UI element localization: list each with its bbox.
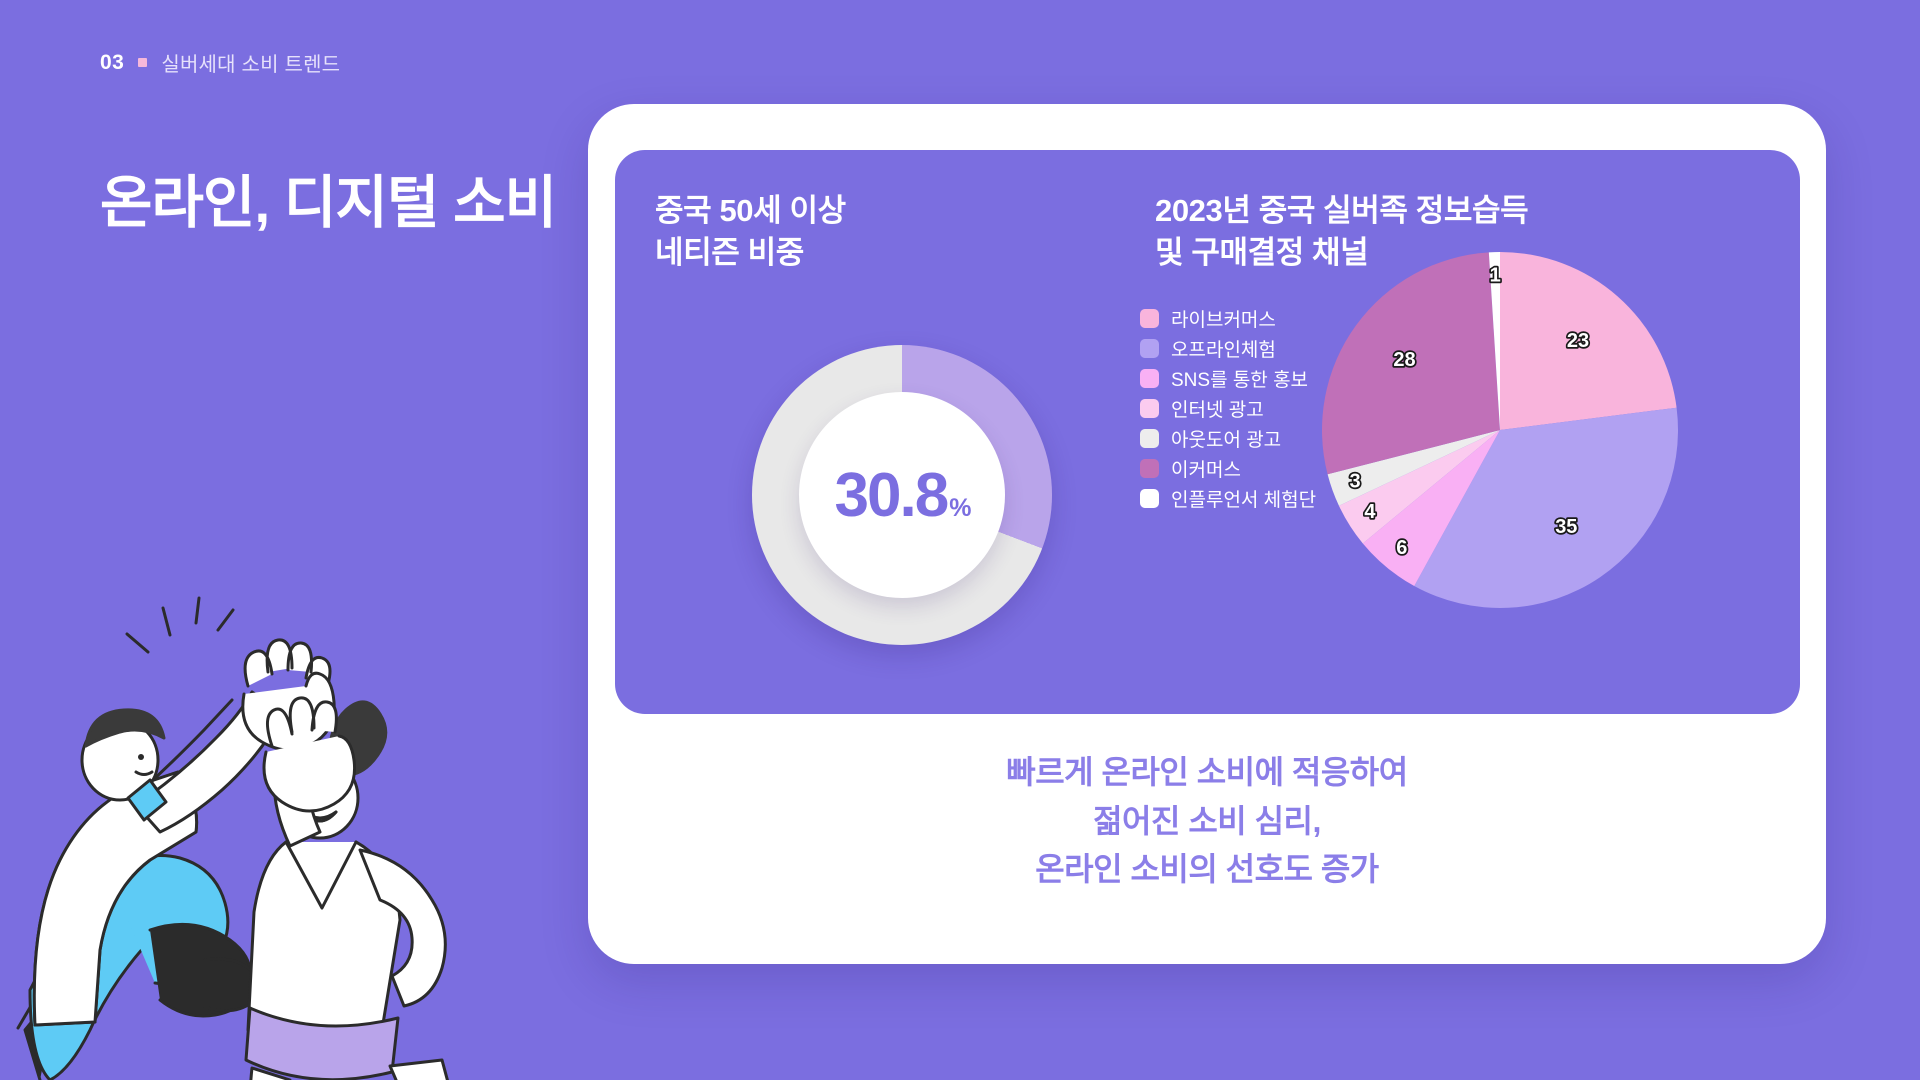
pie-slices[interactable] [1322,252,1678,608]
pie-data-label: 6 [1396,537,1407,559]
donut-chart: 30.8 % [752,345,1052,645]
legend-item[interactable]: 인터넷 광고 [1140,395,1316,422]
donut-unit: % [949,494,969,523]
legend-item[interactable]: 아웃도어 광고 [1140,425,1316,452]
page-title: 온라인, 디지털 소비 [100,166,556,240]
legend-item[interactable]: 인플루언서 체험단 [1140,485,1316,512]
summary-caption: 빠르게 온라인 소비에 적응하여 젊어진 소비 심리, 온라인 소비의 선호도 … [588,748,1826,894]
legend-item[interactable]: 오프라인체험 [1140,335,1316,362]
legend-item[interactable]: 라이브커머스 [1140,305,1316,332]
donut-center: 30.8 % [799,392,1005,598]
pie-chart-svg: 2335643281 [1320,250,1680,610]
pie-legend: 라이브커머스 오프라인체험 SNS를 통한 홍보 인터넷 광고 아웃도어 광고 … [1140,305,1316,512]
pie-data-label: 1 [1490,264,1501,286]
legend-swatch [1140,459,1159,478]
legend-label: 아웃도어 광고 [1171,425,1281,452]
legend-label: 라이브커머스 [1171,305,1276,332]
pie-data-label: 23 [1567,330,1589,352]
pie-data-label: 3 [1350,470,1361,492]
donut-number: 30.8 [835,460,948,531]
legend-swatch [1140,309,1159,328]
legend-label: 인터넷 광고 [1171,395,1264,422]
section-number: 03 [100,51,124,75]
legend-swatch [1140,429,1159,448]
legend-item[interactable]: SNS를 통한 홍보 [1140,365,1316,392]
pie-data-label: 4 [1364,501,1376,523]
chart-panel: 중국 50세 이상 네티즌 비중 30.8 % 2023년 중국 실버족 정보습… [615,150,1800,714]
pie-chart: 2335643281 [1320,250,1680,610]
pie-data-label: 28 [1393,349,1415,371]
donut-chart-title: 중국 50세 이상 네티즌 비중 [655,190,846,274]
legend-swatch [1140,339,1159,358]
legend-label: SNS를 통한 홍보 [1171,365,1308,392]
legend-label: 오프라인체험 [1171,335,1276,362]
legend-label: 인플루언서 체험단 [1171,485,1316,512]
pie-data-label: 35 [1555,516,1577,538]
legend-label: 이커머스 [1171,455,1241,482]
square-bullet-icon [138,58,147,67]
donut-value: 30.8 % [835,460,970,531]
legend-swatch [1140,369,1159,388]
legend-item[interactable]: 이커머스 [1140,455,1316,482]
legend-swatch [1140,489,1159,508]
two-people-high-five-illustration [0,560,520,1080]
breadcrumb: 03 실버세대 소비 트렌드 [100,48,340,77]
section-title: 실버세대 소비 트렌드 [161,48,340,77]
legend-swatch [1140,399,1159,418]
